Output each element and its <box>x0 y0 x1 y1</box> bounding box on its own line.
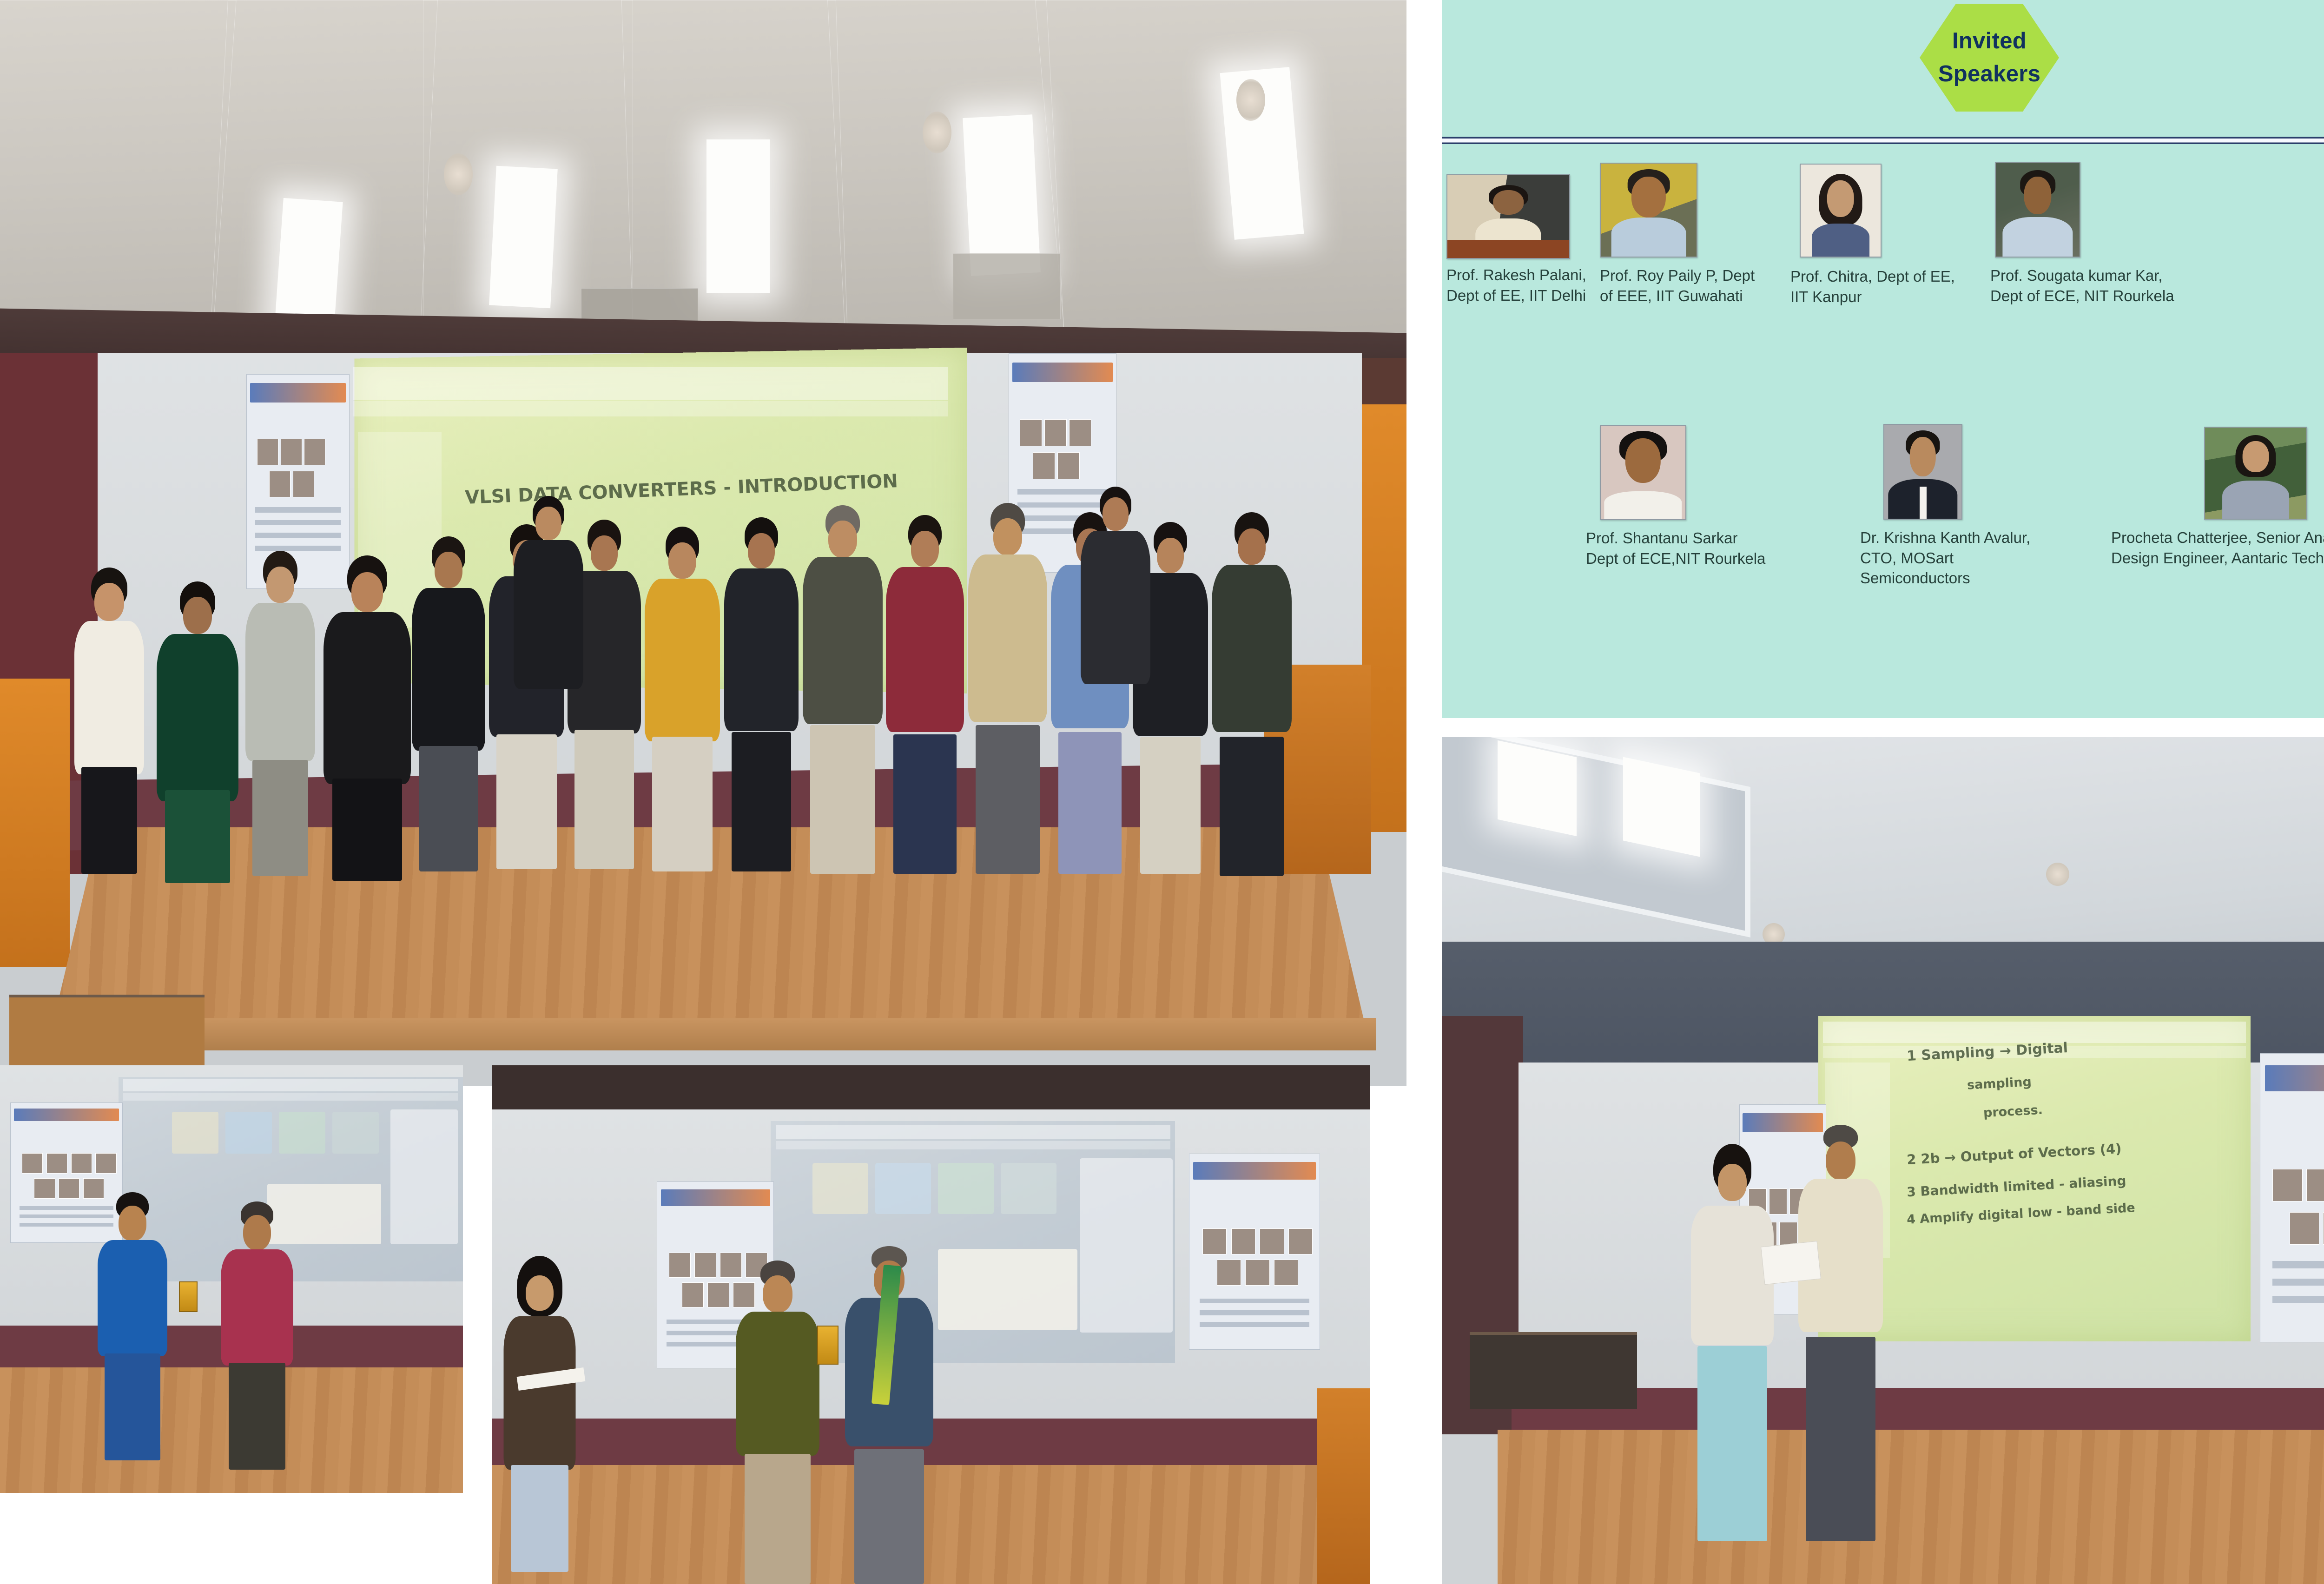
ceiling-light <box>963 114 1041 276</box>
person-presenter <box>95 1200 170 1460</box>
person-recipient <box>218 1209 295 1470</box>
person <box>1208 523 1294 876</box>
meeting-tile <box>172 1112 218 1154</box>
event-poster-right <box>2260 1053 2324 1342</box>
person-presenter <box>1795 1137 1886 1541</box>
portrait <box>1447 175 1569 258</box>
ceiling-light <box>1623 757 1700 857</box>
panel-divider <box>1442 135 2324 147</box>
badge-line-2: Speakers <box>1938 58 2040 91</box>
downlight-icon <box>444 153 473 195</box>
wall-accent-strip <box>0 679 70 967</box>
speaker-affiliation: Design Engineer, Aantaric Technologies <box>2111 548 2324 568</box>
person <box>321 565 414 881</box>
person-faculty <box>964 514 1050 874</box>
speaker-name: Prof. Sougata kumar Kar, <box>1990 266 2163 286</box>
portrait <box>1996 163 2080 257</box>
speaker-affiliation: IIT Kanpur <box>1790 287 1862 307</box>
speaker-affiliation: CTO, MOSart Semiconductors <box>1860 548 1970 588</box>
speaker-name: Procheta Chatterjee, Senior Analog <box>2111 528 2324 548</box>
speaker-affiliation: Dept of ECE, NIT Rourkela <box>1990 286 2174 306</box>
memento-award <box>179 1281 198 1312</box>
browser-toolbar <box>776 1141 1170 1149</box>
portrait <box>2205 428 2306 519</box>
stage-floor <box>1498 1430 2324 1584</box>
ceiling-light <box>1498 740 1577 836</box>
person-recipient <box>1688 1155 1776 1541</box>
side-table <box>1470 1332 1637 1409</box>
certificate <box>1761 1241 1821 1285</box>
browser-chrome-bar <box>353 367 948 400</box>
person <box>409 546 488 871</box>
downlight-icon <box>1236 79 1265 121</box>
meeting-participants-panel <box>390 1109 458 1244</box>
event-poster-right <box>1189 1154 1320 1350</box>
upper-wall-band <box>492 1065 1370 1116</box>
certificate-photo-right: 1 Sampling → Digital sampling process. 2… <box>1442 737 2324 1584</box>
speaker-photo <box>1800 164 1882 257</box>
meeting-tile <box>225 1112 272 1154</box>
meeting-tile <box>938 1163 994 1214</box>
speaker-photo <box>2204 427 2307 520</box>
side-table <box>9 995 205 1072</box>
person <box>883 525 967 874</box>
speaker-name: Prof. Shantanu Sarkar <box>1586 528 1738 548</box>
stage-edge <box>42 1018 1376 1050</box>
group-photo: VLSI DATA CONVERTERS - INTRODUCTION <box>0 0 1406 1086</box>
speaker-photo <box>1600 425 1686 520</box>
memento-award <box>817 1326 838 1365</box>
ceiling-vent <box>953 253 1061 319</box>
person <box>242 560 318 876</box>
memento-photo-middle <box>492 1065 1370 1584</box>
event-poster-left <box>246 374 350 589</box>
speaker-name: Dr. Krishna Kanth Avalur, <box>1860 528 2030 548</box>
portrait <box>1801 165 1881 257</box>
speaker-photo <box>1995 162 2080 257</box>
portrait <box>1884 425 1961 519</box>
podium <box>1317 1388 1370 1584</box>
speaker-name: Prof. Chitra, Dept of EE, <box>1790 267 1955 287</box>
downlight-icon <box>2046 863 2069 886</box>
browser-toolbar <box>353 401 948 416</box>
browser-chrome-bar <box>1823 1022 2246 1043</box>
meeting-active-speaker-tile <box>938 1249 1077 1330</box>
meeting-tile <box>1001 1163 1056 1214</box>
invited-speakers-panel: Invited Speakers Prof. Rakesh Palani, De… <box>1442 0 2324 718</box>
person-faculty <box>799 516 885 874</box>
speaker-affiliation: of EEE, IIT Guwahati <box>1600 286 1743 306</box>
speaker-affiliation: Dept of EE, IIT Delhi <box>1446 286 1586 306</box>
speaker-photo <box>1883 424 1962 520</box>
meeting-tile <box>279 1112 325 1154</box>
browser-chrome-bar <box>776 1125 1170 1139</box>
browser-toolbar <box>123 1093 458 1101</box>
person <box>70 576 149 874</box>
ceiling-light <box>489 166 558 308</box>
meeting-tile <box>812 1163 868 1214</box>
person <box>511 502 586 697</box>
portrait <box>1601 426 1685 519</box>
speaker-name: Prof. Roy Paily P, Dept <box>1600 266 1755 286</box>
downlight-icon <box>923 112 951 153</box>
person-assistant <box>501 1265 578 1572</box>
ceiling-tile <box>1035 0 1406 354</box>
meeting-tile <box>332 1112 379 1154</box>
person <box>153 590 242 883</box>
portrait <box>1601 164 1697 257</box>
ceiling-tile <box>0 0 237 354</box>
ceiling-light <box>706 139 770 293</box>
speaker-name: Prof. Rakesh Palani, <box>1446 265 1586 285</box>
person <box>641 537 723 871</box>
person <box>720 528 802 871</box>
badge-line-1: Invited <box>1952 25 2027 58</box>
memento-photo-left <box>0 1065 463 1493</box>
person-recipient <box>733 1270 822 1584</box>
speaker-photo <box>1600 163 1697 257</box>
person <box>1078 493 1153 693</box>
meeting-tile <box>875 1163 931 1214</box>
meeting-participants-panel <box>1080 1158 1173 1333</box>
speaker-photo <box>1446 174 1570 259</box>
invited-speakers-badge: Invited Speakers <box>1920 4 2059 112</box>
browser-chrome-bar <box>123 1079 458 1091</box>
ceiling-light <box>274 198 343 332</box>
speaker-affiliation: Dept of ECE,NIT Rourkela <box>1586 549 1765 569</box>
